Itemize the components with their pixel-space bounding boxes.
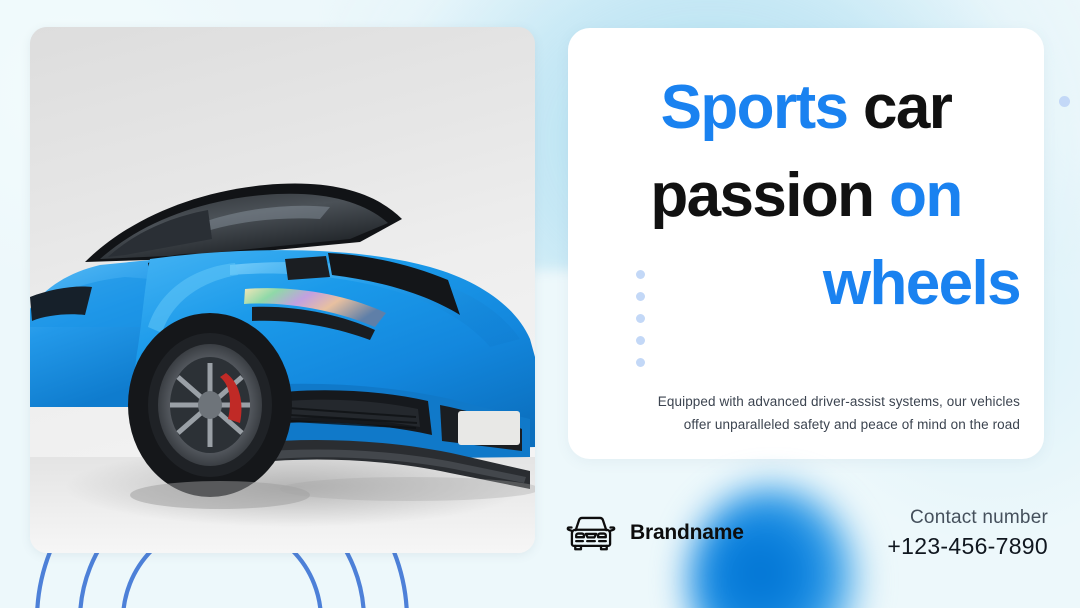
headline-word-car: car	[863, 73, 951, 142]
car-photo-image	[30, 27, 535, 553]
decoration-dot	[636, 336, 645, 345]
headline-word-passion: passion	[650, 161, 873, 230]
headline-word-wheels: wheels	[823, 249, 1020, 318]
car-photo-card	[30, 27, 535, 553]
poster-canvas: Sports car passion on wheels Equipped wi…	[0, 0, 1080, 608]
decoration-dot	[636, 270, 645, 279]
decoration-dot	[636, 314, 645, 323]
car-front-icon	[563, 512, 619, 554]
headline-word-sports: Sports	[661, 73, 848, 142]
headline-card: Sports car passion on wheels Equipped wi…	[568, 28, 1044, 459]
decoration-dot	[636, 292, 645, 301]
body-paragraph: Equipped with advanced driver-assist sys…	[628, 390, 1020, 436]
brand-lockup[interactable]: Brandname	[563, 512, 744, 554]
dots-decoration	[636, 270, 645, 367]
headline-word-on: on	[889, 161, 962, 230]
contact-label: Contact number	[887, 505, 1048, 531]
brand-name-label: Brandname	[630, 521, 744, 545]
contact-block[interactable]: Contact number +123-456-7890	[887, 505, 1048, 561]
contact-number[interactable]: +123-456-7890	[887, 531, 1048, 561]
headline-line-1: Sports car	[592, 64, 1020, 152]
headline: Sports car passion on wheels	[592, 64, 1020, 328]
headline-line-3: wheels	[592, 240, 1020, 328]
headline-line-2: passion on	[592, 152, 1020, 240]
decoration-dot	[636, 358, 645, 367]
edge-decoration-dot	[1059, 96, 1070, 107]
